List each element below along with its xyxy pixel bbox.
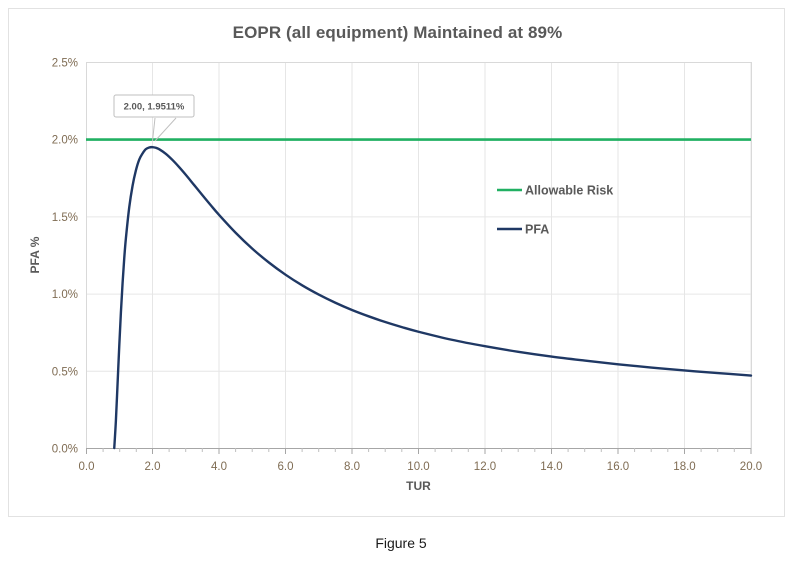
y-axis-tick-labels: 2.5% 2.0% 1.5% 1.0% 0.5% 0.0%: [52, 58, 78, 456]
x-axis-tick-labels: 0.0 2.0 4.0 6.0 8.0 10.0 12.0 14.0 16.0 …: [79, 461, 763, 473]
x-tick-label: 10.0: [407, 461, 429, 473]
chart-plot: 2.5% 2.0% 1.5% 1.0% 0.5% 0.0% 0.0 2.0 4.…: [9, 9, 786, 518]
y-tick-label: 1.5%: [52, 212, 78, 224]
x-tick-label: 6.0: [278, 461, 294, 473]
figure-caption: Figure 5: [0, 535, 802, 551]
x-tick-label: 0.0: [79, 461, 95, 473]
y-axis-title: PFA %: [28, 236, 42, 273]
y-tick-label: 0.5%: [52, 366, 78, 378]
chart-frame: EOPR (all equipment) Maintained at 89%: [8, 8, 785, 517]
y-tick-label: 0.0%: [52, 444, 78, 456]
x-tick-label: 4.0: [211, 461, 227, 473]
x-tick-label: 8.0: [344, 461, 360, 473]
figure-container: EOPR (all equipment) Maintained at 89%: [0, 0, 802, 566]
x-tick-label: 2.0: [145, 461, 161, 473]
y-tick-label: 2.0%: [52, 135, 78, 147]
callout-label-text: 2.00, 1.9511%: [124, 102, 185, 113]
x-tick-label: 20.0: [740, 461, 762, 473]
legend-label-pfa: PFA: [525, 223, 549, 237]
x-axis-title: TUR: [406, 479, 431, 493]
x-tick-label: 18.0: [673, 461, 695, 473]
x-tick-label: 12.0: [474, 461, 496, 473]
legend-label-allowable-risk: Allowable Risk: [525, 184, 613, 198]
x-tick-label: 16.0: [607, 461, 629, 473]
y-tick-label: 1.0%: [52, 289, 78, 301]
x-tick-label: 14.0: [540, 461, 562, 473]
y-tick-label: 2.5%: [52, 58, 78, 70]
